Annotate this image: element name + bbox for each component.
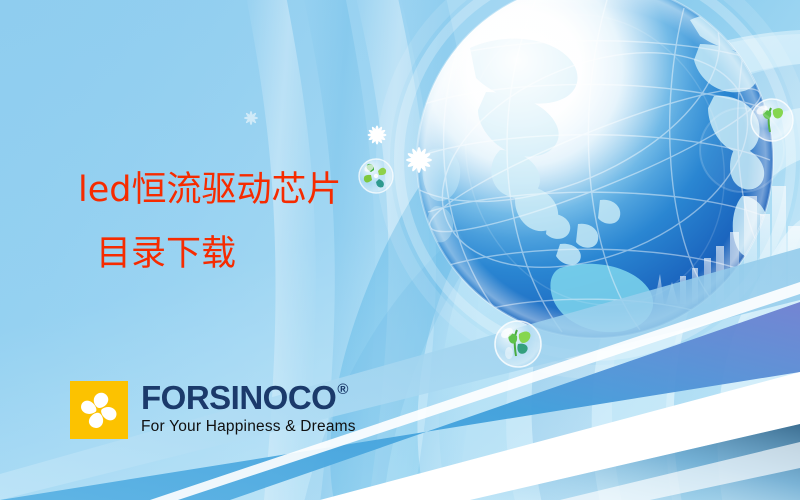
registered-trademark-icon: ® bbox=[337, 382, 348, 397]
company-logo: FORSINOCO ® For Your Happiness & Dreams bbox=[70, 381, 356, 439]
ribbon-group-arcs bbox=[330, 0, 800, 500]
forsinoco-pinwheel-mark bbox=[70, 381, 128, 439]
bubble-group bbox=[359, 99, 793, 367]
brand-name: FORSINOCO ® bbox=[141, 381, 356, 414]
brand-name-text: FORSINOCO bbox=[141, 381, 336, 414]
flower-burst-upper bbox=[368, 126, 387, 145]
headline-line-2: 目录下载 bbox=[78, 222, 341, 286]
promotional-banner: led恒流驱动芯片 目录下载 FORSINOCO bbox=[0, 0, 800, 500]
bubble-leaf-right bbox=[751, 99, 793, 141]
bubble-pinwheel-small bbox=[359, 159, 393, 193]
headline-line-1: led恒流驱动芯片 bbox=[78, 158, 341, 222]
headline-text: led恒流驱动芯片 目录下载 bbox=[78, 158, 341, 286]
continents bbox=[423, 13, 773, 355]
globe-grid bbox=[406, 0, 779, 344]
city-skyline-silhouette bbox=[654, 186, 800, 304]
world-globe bbox=[406, 0, 779, 355]
flower-burst-lower bbox=[406, 147, 432, 173]
logo-wordmark: FORSINOCO ® For Your Happiness & Dreams bbox=[141, 381, 356, 435]
flower-burst-left bbox=[244, 111, 258, 125]
bubble-sprout bbox=[495, 321, 541, 367]
brand-tagline: For Your Happiness & Dreams bbox=[141, 418, 356, 435]
